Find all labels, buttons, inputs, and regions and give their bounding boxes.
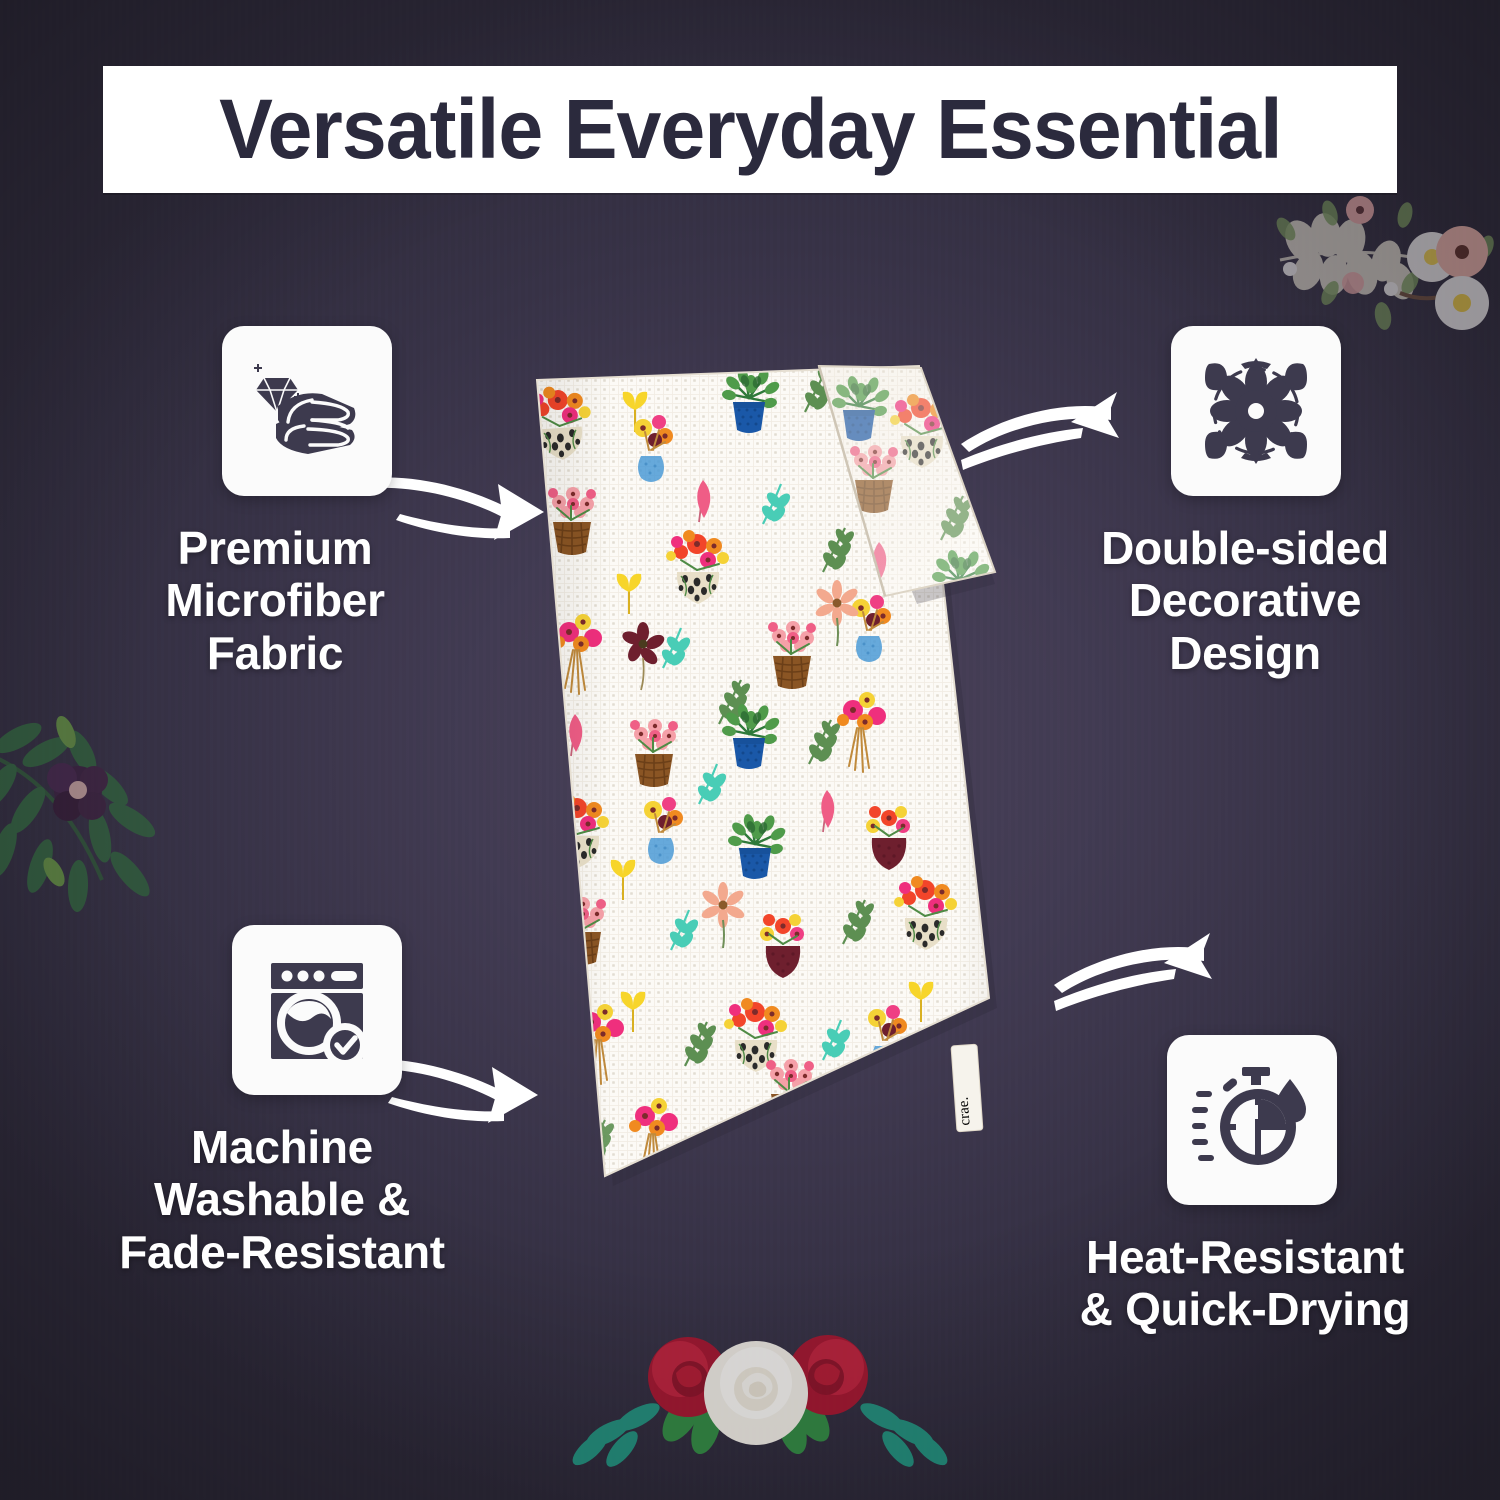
feature-label-double-sided-design: Double-sided Decorative Design — [1101, 522, 1389, 679]
icon-card-heat-resistant-quick-drying — [1167, 1035, 1337, 1205]
infographic-canvas: Versatile Everyday Essential — [0, 0, 1500, 1500]
title-banner: Versatile Everyday Essential — [103, 66, 1397, 193]
feature-label-machine-washable: Machine Washable & Fade-Resistant — [119, 1121, 445, 1278]
icon-card-machine-washable — [232, 925, 402, 1095]
page-title: Versatile Everyday Essential — [219, 81, 1281, 178]
icon-card-double-sided-design — [1171, 326, 1341, 496]
icon-card-premium-microfiber — [222, 326, 392, 496]
washing-machine-check-icon — [257, 951, 377, 1069]
brand-tag-label: crae. — [956, 1096, 974, 1126]
feature-double-sided-decorative-design: Double-sided Decorative Design — [1050, 326, 1440, 679]
foliage-sprig-left — [0, 690, 192, 965]
feature-machine-washable-fade-resistant: Machine Washable & Fade-Resistant — [104, 925, 460, 1278]
rose-arrangement-bottom — [560, 1325, 960, 1500]
diamond-folded-towels-icon — [246, 350, 368, 472]
curved-arrow-left-bottom-right — [1030, 915, 1220, 1030]
feature-label-heat-resistant-quick-drying: Heat-Resistant & Quick-Drying — [1080, 1231, 1411, 1336]
feature-premium-microfiber-fabric: Premium Microfiber Fabric — [110, 326, 440, 679]
feature-heat-resistant-quick-drying: Heat-Resistant & Quick-Drying — [1040, 1035, 1450, 1336]
feature-label-premium-microfiber: Premium Microfiber Fabric — [165, 522, 384, 679]
floral-medallion-icon — [1197, 352, 1315, 470]
brand-tag: crae. — [951, 1044, 983, 1132]
stopwatch-droplet-icon — [1192, 1061, 1312, 1179]
